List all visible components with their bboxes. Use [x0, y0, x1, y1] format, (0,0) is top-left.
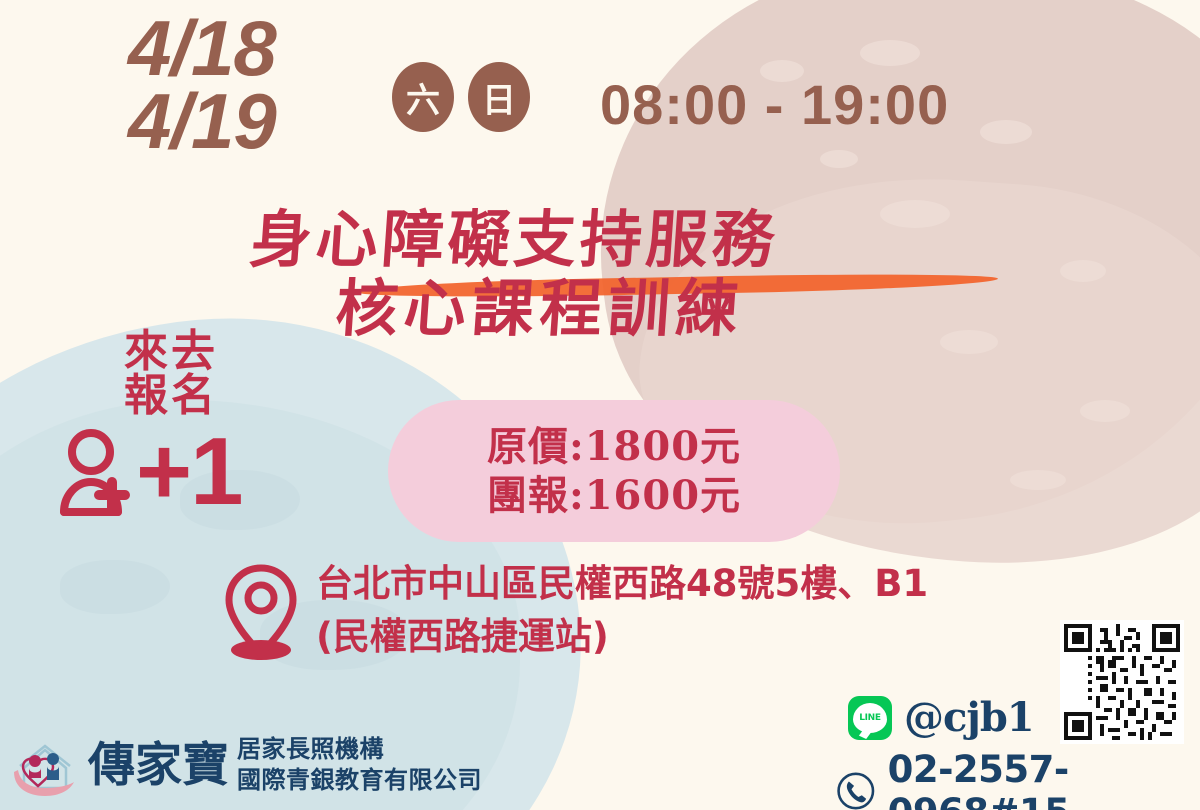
- line-contact[interactable]: LINE @cjb1: [848, 694, 1034, 741]
- phone-number-text: 02-2557-0968#15: [888, 748, 1200, 810]
- address-text: 台北市中山區民權西路48號5樓、B1 (民權西路捷運站): [316, 558, 928, 663]
- signup-callout: 來去 報名 +1: [60, 330, 260, 520]
- poster-canvas: 4/18 4/19 六 日 08:00 - 19:00 身心障礙支持服務 核心課…: [0, 0, 1200, 810]
- qr-code-icon[interactable]: [1060, 620, 1184, 744]
- weekday-badge-saturday: 六: [392, 62, 454, 132]
- event-date-line-1: 4/18: [128, 12, 276, 85]
- line-icon[interactable]: LINE: [848, 696, 892, 740]
- event-title-line-1: 身心障礙支持服務: [248, 205, 1013, 274]
- line-id-text: @cjb1: [904, 694, 1034, 741]
- signup-label-line-1: 來去: [84, 330, 258, 374]
- event-time-range: 08:00 - 19:00: [600, 72, 949, 137]
- signup-icon-row: +1: [60, 424, 260, 520]
- venue-address: 台北市中山區民權西路48號5樓、B1 (民權西路捷運站): [222, 558, 928, 663]
- map-pin-icon: [222, 562, 300, 662]
- logo-subtitle-line-1: 居家長照機構: [237, 734, 482, 765]
- phone-contact[interactable]: 02-2557-0968#15: [836, 748, 1200, 810]
- address-line-2: (民權西路捷運站): [316, 611, 928, 664]
- address-line-1: 台北市中山區民權西路48號5樓、B1: [316, 558, 928, 611]
- event-dates: 4/18 4/19: [128, 12, 276, 157]
- logo-brand-name: 傳家寶: [88, 742, 229, 789]
- price-group: 團報:1600元: [487, 472, 741, 519]
- weekday-badge-sunday: 日: [468, 62, 530, 132]
- signup-label-line-2: 報名: [84, 374, 258, 418]
- event-date-line-2: 4/19: [128, 85, 276, 158]
- content-layer: 4/18 4/19 六 日 08:00 - 19:00 身心障礙支持服務 核心課…: [0, 0, 1200, 810]
- logo-subtitle-line-2: 國際青銀教育有限公司: [237, 765, 482, 796]
- price-badge: 原價:1800元 團報:1600元: [388, 400, 840, 542]
- person-icon: [60, 426, 140, 518]
- logo-subtitle: 居家長照機構 國際青銀教育有限公司: [235, 734, 482, 795]
- weekday-badges: 六 日: [392, 62, 530, 132]
- line-icon-label: LINE: [859, 713, 881, 723]
- phone-icon: [836, 768, 876, 810]
- home-heart-care-icon: [8, 728, 82, 802]
- line-bubble-shape: LINE: [853, 703, 887, 733]
- event-title: 身心障礙支持服務 核心課程訓練: [250, 205, 1010, 344]
- company-logo: 傳家寶 居家長照機構 國際青銀教育有限公司: [8, 728, 482, 802]
- plus-one-label: +1: [136, 424, 241, 520]
- event-title-line-2: 核心課程訓練: [334, 274, 1013, 343]
- price-original: 原價:1800元: [487, 423, 741, 470]
